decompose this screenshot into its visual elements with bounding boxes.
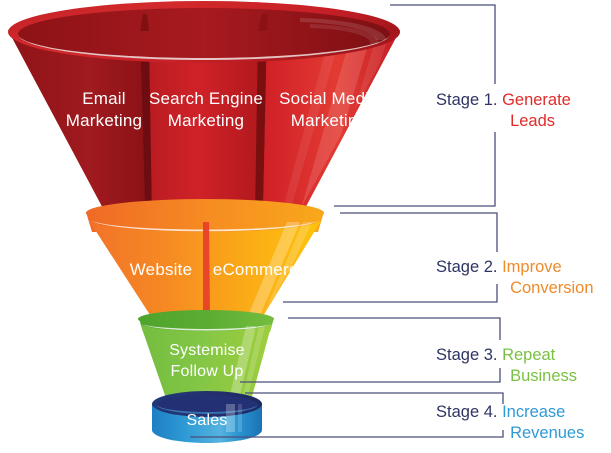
stage-2-description: Improve Conversion xyxy=(502,257,593,299)
stage-2-number: Stage 2. xyxy=(436,258,497,276)
label-email-marketing-l2: Marketing xyxy=(66,111,142,130)
stage-4-description: Increase Revenues xyxy=(502,402,584,444)
stage-2-desc-line2: Conversion xyxy=(502,278,593,299)
label-ecommerce: eCommerce xyxy=(213,260,307,279)
label-systemise: Systemise xyxy=(169,342,245,359)
stage-4-desc-line2: Revenues xyxy=(502,423,584,444)
stage-3-desc-line1: Repeat xyxy=(502,346,555,364)
stage-3-desc-line2: Business xyxy=(502,366,577,387)
label-social-media-marketing-l1: Social Media xyxy=(279,89,379,108)
stage-3-description: Repeat Business xyxy=(502,345,577,387)
blue-sheen-streaks xyxy=(226,404,242,434)
label-sales: Sales xyxy=(186,412,227,429)
funnel-segment-improve-conversion: Website eCommerce xyxy=(86,199,324,318)
label-social-media-marketing-l2: Marketing xyxy=(291,111,367,130)
funnel-segment-increase-revenues: Sales xyxy=(152,391,262,443)
funnel-segment-generate-leads: Email Marketing Search Engine Marketing … xyxy=(8,1,400,212)
stage-label-4: Stage 4. Increase Revenues xyxy=(436,402,584,444)
stage-4-desc-line1: Increase xyxy=(502,403,565,421)
funnel-segment-repeat-business: Systemise Follow Up xyxy=(138,310,274,404)
label-website: Website xyxy=(130,260,193,279)
stage-1-desc-line2: Leads xyxy=(502,111,571,132)
label-email-marketing-l1: Email xyxy=(82,89,126,108)
stage-1-number: Stage 1. xyxy=(436,91,497,109)
stage-label-2: Stage 2. Improve Conversion xyxy=(436,257,594,299)
orange-divider xyxy=(203,222,210,318)
stage-label-3: Stage 3. Repeat Business xyxy=(436,345,577,387)
stage-3-number: Stage 3. xyxy=(436,346,497,364)
label-follow-up: Follow Up xyxy=(171,363,244,380)
funnel-diagram: Email Marketing Search Engine Marketing … xyxy=(0,0,611,453)
stage-4-number: Stage 4. xyxy=(436,403,497,421)
stage-2-desc-line1: Improve xyxy=(502,258,562,276)
stage-1-description: Generate Leads xyxy=(502,90,571,132)
label-search-engine-marketing-l2: Marketing xyxy=(168,111,244,130)
label-search-engine-marketing-l1: Search Engine xyxy=(149,89,263,108)
stage-label-1: Stage 1. Generate Leads xyxy=(436,90,571,132)
stage-1-desc-line1: Generate xyxy=(502,91,571,109)
